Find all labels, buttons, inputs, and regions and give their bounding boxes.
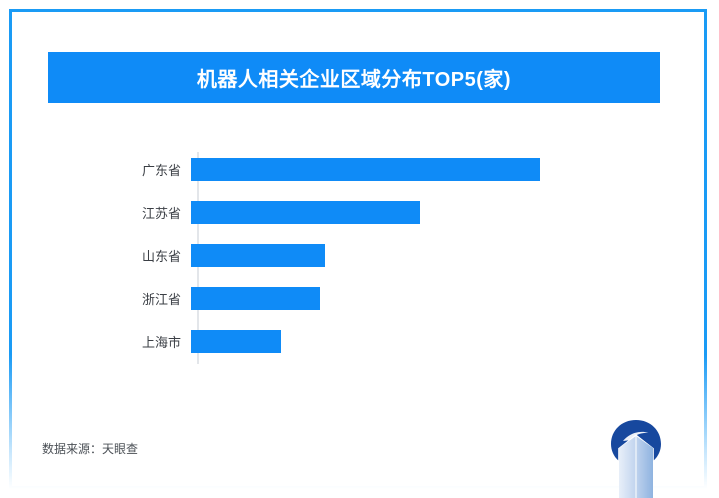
bar-category-label: 山东省: [48, 246, 189, 265]
bar-category-label: 广东省: [48, 160, 189, 179]
bar-category-label: 浙江省: [48, 289, 189, 308]
data-source-label: 数据来源：天眼查: [42, 440, 138, 457]
bar-track: [189, 287, 660, 310]
bar[interactable]: [191, 201, 420, 224]
tianyancha-logo: [605, 414, 667, 498]
bar[interactable]: [191, 158, 540, 181]
bar[interactable]: [191, 287, 320, 310]
bar-track: [189, 201, 660, 224]
bar-row: 上海市: [48, 330, 660, 353]
bar-track: [189, 158, 660, 181]
bar[interactable]: [191, 330, 281, 353]
bar-row: 浙江省: [48, 287, 660, 310]
bar-category-label: 上海市: [48, 332, 189, 351]
bar-row-list: 广东省江苏省山东省浙江省上海市: [48, 150, 660, 368]
bar-track: [189, 244, 660, 267]
bar[interactable]: [191, 244, 325, 267]
logo-column: [619, 436, 653, 498]
bar-row: 山东省: [48, 244, 660, 267]
chart-title-banner: 机器人相关企业区域分布TOP5(家): [48, 52, 660, 103]
bar-row: 广东省: [48, 158, 660, 181]
page-title: 机器人相关企业区域分布TOP5(家): [197, 63, 511, 92]
bar-category-label: 江苏省: [48, 203, 189, 222]
bar-chart: 广东省江苏省山东省浙江省上海市: [48, 150, 660, 368]
bar-track: [189, 330, 660, 353]
infographic-screen: 机器人相关企业区域分布TOP5(家) 广东省江苏省山东省浙江省上海市 数据来源：…: [0, 0, 719, 498]
bar-row: 江苏省: [48, 201, 660, 224]
